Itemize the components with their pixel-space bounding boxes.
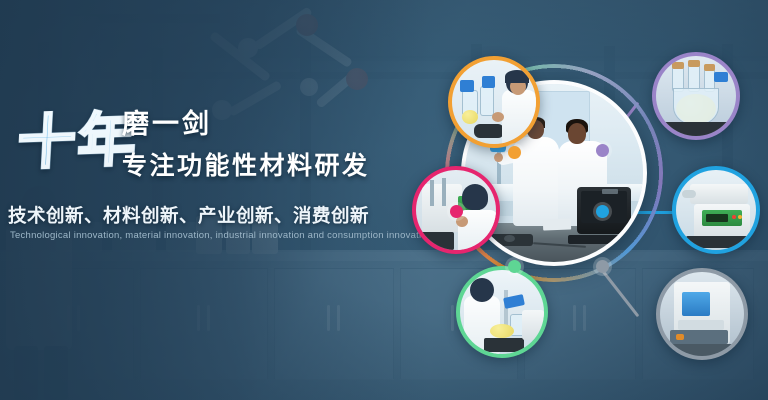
headline-text-block: 十年 磨一剑 专注功能性材料研发 技术创新、材料创新、产业创新、消费创新 Tec… bbox=[0, 96, 420, 164]
connector-dot-bottom-right bbox=[596, 260, 609, 273]
node-right-photo bbox=[676, 170, 756, 250]
node-right bbox=[672, 166, 760, 254]
tagline-english: Technological innovation, material innov… bbox=[10, 230, 432, 241]
node-top-left bbox=[448, 56, 540, 148]
connector-dot-top-right bbox=[596, 144, 609, 157]
node-bottom-right-photo bbox=[660, 272, 744, 356]
node-bottom-left-photo bbox=[460, 270, 544, 354]
connector-dot-right bbox=[596, 205, 609, 218]
headline-line-1: 磨一剑 bbox=[122, 102, 212, 141]
node-top-left-photo bbox=[452, 60, 536, 144]
connector-dot-top-left bbox=[508, 146, 521, 159]
node-bottom-left bbox=[456, 266, 548, 358]
headline-row: 十年 磨一剑 专注功能性材料研发 bbox=[0, 96, 420, 164]
left-shade-overlay bbox=[0, 0, 430, 400]
promotional-banner: 十年 磨一剑 专注功能性材料研发 技术创新、材料创新、产业创新、消费创新 Tec… bbox=[0, 0, 768, 400]
node-top-right bbox=[652, 52, 740, 140]
node-top-right-photo bbox=[656, 56, 736, 136]
connector-dot-left bbox=[450, 205, 463, 218]
node-bottom-right bbox=[656, 268, 748, 360]
headline-line-2: 专注功能性材料研发 bbox=[122, 146, 370, 182]
connector-bottom-right bbox=[599, 267, 640, 318]
tagline-chinese: 技术创新、材料创新、产业创新、消费创新 bbox=[8, 202, 369, 228]
circle-composition bbox=[400, 38, 768, 374]
connector-dot-bottom-left bbox=[508, 260, 521, 273]
